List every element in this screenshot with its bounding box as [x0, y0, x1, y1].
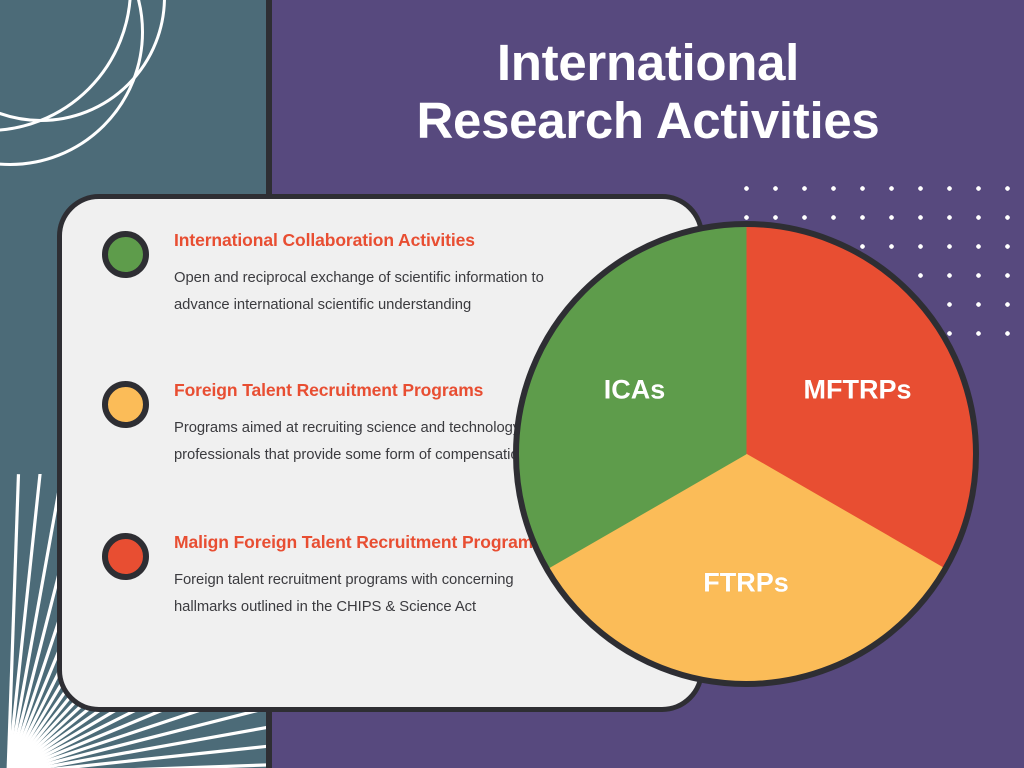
- page-title: International Research Activities: [272, 34, 1024, 150]
- pie-chart-svg: [510, 218, 982, 690]
- page-title-line-1: International: [272, 34, 1024, 92]
- pie-slice-label-mftrps: MFTRPs: [804, 374, 912, 405]
- swatch-circle-icon-green: [102, 231, 149, 278]
- page-title-line-2: Research Activities: [272, 92, 1024, 150]
- pie-slice-label-icas: ICAs: [604, 374, 666, 405]
- pie-slice-label-ftrps: FTRPs: [703, 567, 789, 598]
- list-item[interactable]: Foreign Talent Recruitment Programs Prog…: [102, 379, 572, 468]
- swatch-circle-icon-red: [102, 533, 149, 580]
- infographic-canvas: International Research Activities Intern…: [0, 0, 1024, 768]
- list-item[interactable]: International Collaboration Activities O…: [102, 229, 572, 318]
- swatch-circle-icon-yellow: [102, 381, 149, 428]
- pie-chart[interactable]: MFTRPsFTRPsICAs: [510, 218, 982, 690]
- list-item[interactable]: Malign Foreign Talent Recruitment Progra…: [102, 531, 572, 620]
